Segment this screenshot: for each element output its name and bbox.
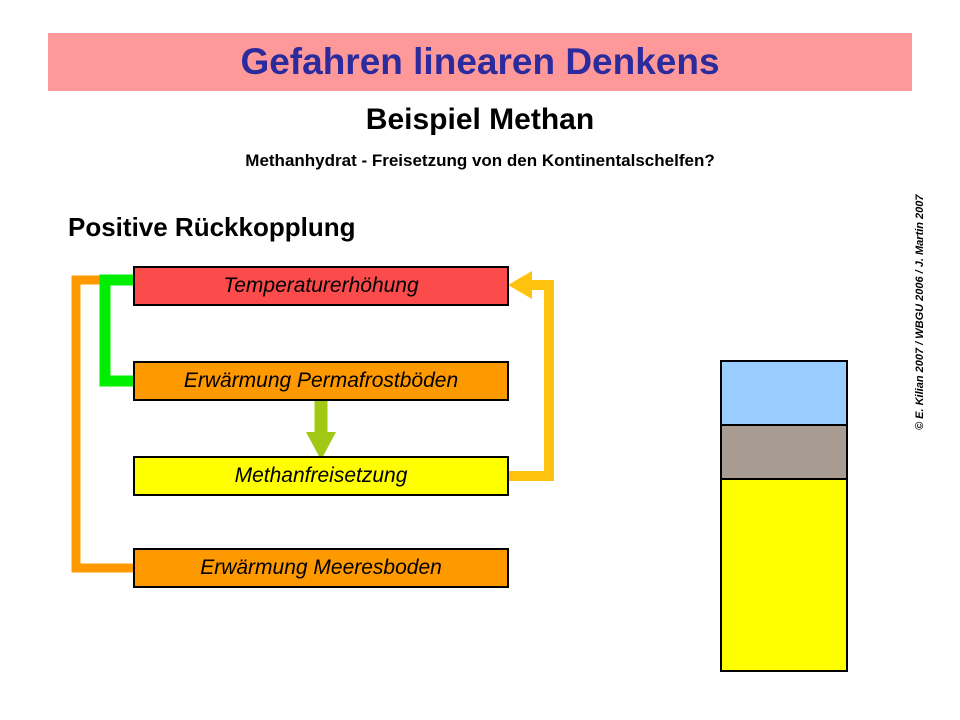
column-band-hydrate [722, 480, 846, 670]
slide-canvas: Gefahren linearen Denkens Beispiel Metha… [0, 0, 960, 720]
column-band-water [722, 362, 846, 426]
flow-box-methane[interactable]: Methanfreisetzung [133, 456, 509, 496]
flow-box-temperature[interactable]: Temperaturerhöhung [133, 266, 509, 306]
connector-methane-to-temperature-amber [508, 271, 549, 476]
flow-box-label: Erwärmung Permafrostböden [184, 369, 458, 393]
flow-box-permafrost[interactable]: Erwärmung Permafrostböden [133, 361, 509, 401]
connector-permafrost-to-methane-yellowgreen [306, 401, 336, 460]
flow-box-label: Erwärmung Meeresboden [200, 556, 442, 580]
flow-box-seafloor[interactable]: Erwärmung Meeresboden [133, 548, 509, 588]
flow-box-label: Temperaturerhöhung [223, 274, 418, 298]
flow-box-label: Methanfreisetzung [235, 464, 408, 488]
sediment-column-graphic [720, 360, 848, 672]
column-band-sediment [722, 426, 846, 480]
connector-temperature-to-seafloor-orange [76, 280, 212, 583]
